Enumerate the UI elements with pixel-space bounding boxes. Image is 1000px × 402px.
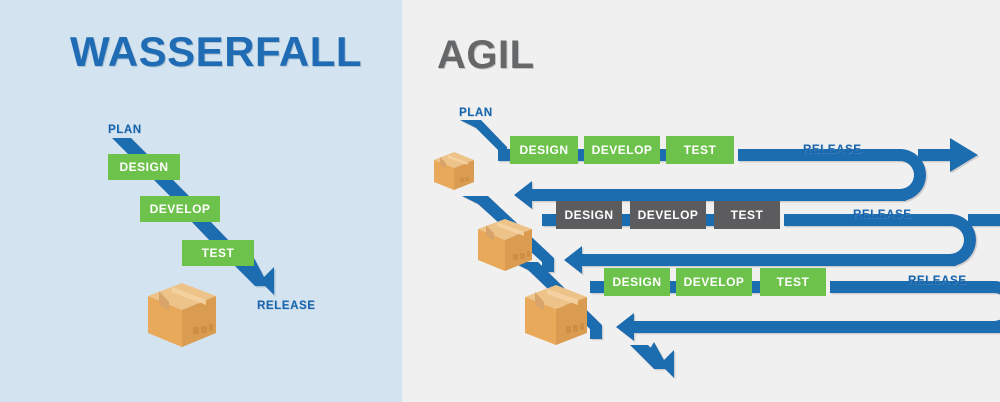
agile-iter3-return-arrowhead xyxy=(616,313,634,341)
arrow-down-right-icon xyxy=(630,342,674,378)
agile-iter3-stage-design[interactable]: DESIGN xyxy=(604,268,670,296)
agile-iter1-stage-develop[interactable]: DEVELOP xyxy=(584,136,660,164)
waterfall-stage-2-label: DEVELOP xyxy=(150,202,211,216)
agile-diagram: DESIGN DEVELOP TEST DESIGN DEVELOP xyxy=(402,0,1000,402)
agile-iter3-entry-stub xyxy=(590,281,604,293)
waterfall-plan-label: PLAN xyxy=(108,124,142,136)
package-box-icon xyxy=(434,152,474,190)
agile-iter2-stage-design-label: DESIGN xyxy=(564,208,613,222)
agile-iter2-stage-test[interactable]: TEST xyxy=(714,201,780,229)
waterfall-stage-2[interactable]: DEVELOP xyxy=(140,196,220,222)
agile-iter2-stage-test-label: TEST xyxy=(731,208,764,222)
waterfall-release-label: RELEASE xyxy=(257,300,316,312)
agile-iter3-stage-develop[interactable]: DEVELOP xyxy=(676,268,752,296)
agile-iter2-stage-design[interactable]: DESIGN xyxy=(556,201,622,229)
agile-iter1-stage-test[interactable]: TEST xyxy=(666,136,734,164)
agile-release-label-2: RELEASE xyxy=(853,209,912,221)
agile-iter3-stage-test-label: TEST xyxy=(777,275,810,289)
agile-iter2-return-line xyxy=(582,254,956,266)
agile-iter3-stage-design-label: DESIGN xyxy=(612,275,661,289)
agile-iter2-stage-develop-label: DEVELOP xyxy=(638,208,699,222)
agile-iter3-stage-test[interactable]: TEST xyxy=(760,268,826,296)
agile-iter1-stage-develop-label: DEVELOP xyxy=(592,143,653,157)
agile-iter1-stage-test-label: TEST xyxy=(684,143,717,157)
package-box-icon xyxy=(478,219,532,271)
agile-release-label-1: RELEASE xyxy=(803,144,862,156)
infographic-root: WASSERFALL AGIL DESIGN xyxy=(0,0,1000,402)
agile-iter2-stage-develop[interactable]: DEVELOP xyxy=(630,201,706,229)
waterfall-stage-3[interactable]: TEST xyxy=(182,240,254,266)
agile-iter1-stage-design-label: DESIGN xyxy=(519,143,568,157)
agile-iter1-stage-design[interactable]: DESIGN xyxy=(510,136,578,164)
package-box-icon xyxy=(525,285,587,345)
agile-iter3-stage-develop-label: DEVELOP xyxy=(684,275,745,289)
agile-release-label-3: RELEASE xyxy=(908,275,967,287)
waterfall-diagram: DESIGN DEVELOP TEST xyxy=(0,0,402,402)
agile-iter2-return-arrowhead xyxy=(564,246,582,274)
agile-iter2-entry-stub xyxy=(542,214,556,226)
package-box-icon xyxy=(148,283,216,347)
waterfall-stage-1[interactable]: DESIGN xyxy=(108,154,180,180)
waterfall-stages: DESIGN DEVELOP TEST xyxy=(108,154,254,266)
agile-iter1-return-line xyxy=(532,189,906,201)
agile-iter1-return-arrowhead xyxy=(514,181,532,209)
agile-iter1-release-arrow xyxy=(918,138,978,172)
agile-iteration-3-stages: DESIGN DEVELOP TEST xyxy=(604,268,826,296)
agile-plan-label: PLAN xyxy=(459,107,493,119)
agile-iter1-entry-stub xyxy=(498,149,512,161)
waterfall-stage-3-label: TEST xyxy=(202,246,235,260)
agile-iteration-1-stages: DESIGN DEVELOP TEST xyxy=(510,136,734,164)
waterfall-stage-1-label: DESIGN xyxy=(119,160,168,174)
agile-iteration-2-stages: DESIGN DEVELOP TEST xyxy=(556,201,780,229)
agile-iter3-return-line xyxy=(634,321,1000,333)
